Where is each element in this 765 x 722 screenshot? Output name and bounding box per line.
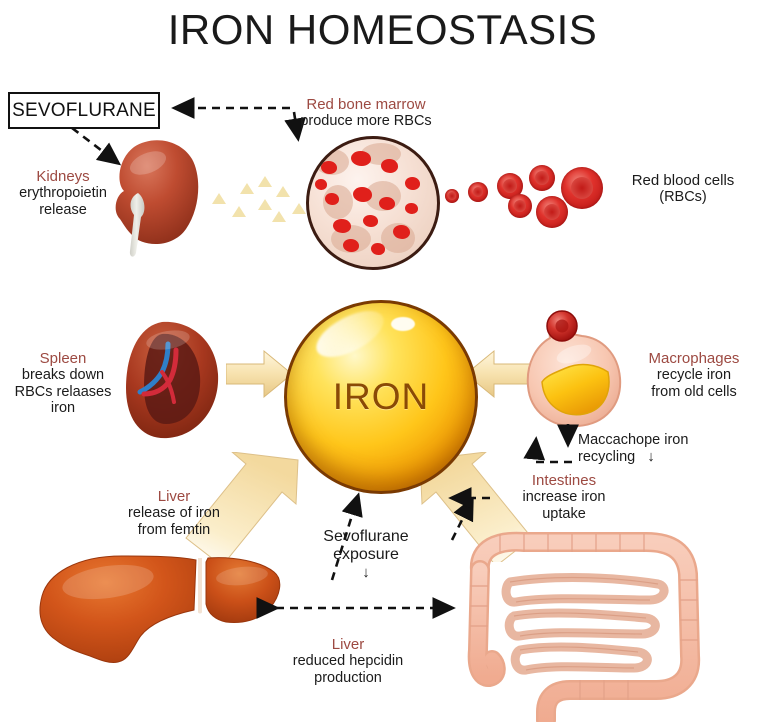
erythropoietin-particle — [292, 203, 306, 214]
red-blood-cell — [508, 194, 532, 218]
iron-label: IRON — [333, 376, 430, 418]
label-sevoexp-line1: Sevoflurane — [310, 528, 422, 546]
label-liver-ferritin: Liver release of iron from femtin — [104, 488, 244, 538]
label-macrophages-line1: recycle iron — [626, 367, 762, 384]
red-blood-cell — [445, 189, 459, 203]
diagram-canvas: IRON HOMEOSTASIS SEVOFLURANE — [0, 0, 765, 722]
label-liver-ferritin-line1: release of iron — [104, 505, 244, 522]
label-liver-hepcidin: Liver reduced hepcidin production — [258, 636, 438, 686]
sevoflurane-label: SEVOFLURANE — [12, 100, 156, 122]
erythropoietin-particle — [240, 183, 254, 194]
label-liver-hepcidin-line1: reduced hepcidin — [258, 653, 438, 670]
iron-gloss-dot — [391, 317, 415, 331]
label-macrophage-recycling-line1: Maccachope iron — [578, 432, 758, 449]
label-rbc-heading: Red blood cells — [608, 172, 758, 189]
label-liver-hepcidin-line2: production — [258, 670, 438, 687]
label-intestines-heading: Intestines — [490, 472, 638, 489]
label-macrophages-heading: Macrophages — [626, 350, 762, 367]
bone-marrow-illustration — [306, 136, 440, 270]
label-intestines-line1: increase iron — [490, 489, 638, 506]
iron-gloss-highlight — [309, 302, 390, 367]
sevoexp-down-arrow-icon: ↓ — [310, 565, 422, 580]
label-macrophages: Macrophages recycle iron from old cells — [626, 350, 762, 400]
label-macrophage-recycling-line2: recycling ↓ — [578, 449, 758, 466]
red-blood-cell — [529, 165, 555, 191]
liver-illustration — [36, 552, 284, 670]
macrophage-illustration — [518, 310, 630, 432]
page-title: IRON HOMEOSTASIS — [0, 6, 765, 54]
label-kidneys-line1: erythropoietin — [4, 185, 122, 202]
red-blood-cell — [468, 182, 488, 202]
red-blood-cell — [561, 167, 603, 209]
label-spleen-line3: iron — [2, 400, 124, 417]
kidney-illustration — [108, 133, 204, 259]
label-liver-ferritin-heading: Liver — [104, 488, 244, 505]
label-red-blood-cells: Red blood cells (RBCs) — [608, 172, 758, 206]
label-liver-ferritin-line2: from femtin — [104, 522, 244, 539]
intestines-illustration — [450, 530, 732, 722]
label-liver-hepcidin-heading: Liver — [258, 636, 438, 653]
block-arrow-spleen-to-iron — [226, 348, 292, 400]
erythropoietin-particle — [276, 186, 290, 197]
label-spleen-line2: RBCs relaases — [2, 384, 124, 401]
label-bone-marrow: Red bone marrow produce more RBCs — [286, 96, 446, 130]
red-blood-cell — [536, 196, 568, 228]
label-kidneys-line2: release — [4, 202, 122, 219]
iron-sphere: IRON — [284, 300, 478, 494]
label-bone-marrow-line1: produce more RBCs — [286, 113, 446, 130]
label-spleen: Spleen breaks down RBCs relaases iron — [2, 350, 124, 417]
label-kidneys: Kidneys erythropoietin release — [4, 168, 122, 218]
label-macrophage-recycling-word: recycling — [578, 449, 635, 465]
erythropoietin-particle — [258, 176, 272, 187]
label-macrophage-recycling: Maccachope iron recycling ↓ — [578, 432, 758, 465]
label-intestines: Intestines increase iron uptake — [490, 472, 638, 522]
erythropoietin-particle — [272, 211, 286, 222]
label-sevoexp-line2: exposure — [310, 546, 422, 564]
label-macrophages-line2: from old cells — [626, 384, 762, 401]
label-spleen-line1: breaks down — [2, 367, 124, 384]
erythropoietin-particle — [232, 206, 246, 217]
spleen-illustration — [118, 318, 222, 440]
sevoflurane-box: SEVOFLURANE — [8, 92, 160, 129]
label-rbc-line1: (RBCs) — [608, 189, 758, 206]
label-sevoflurane-exposure: Sevoflurane exposure ↓ — [310, 528, 422, 580]
erythropoietin-particle — [212, 193, 226, 204]
down-arrow-icon: ↓ — [647, 449, 654, 465]
label-kidneys-heading: Kidneys — [4, 168, 122, 185]
label-intestines-line2: uptake — [490, 506, 638, 523]
erythropoietin-particle — [258, 199, 272, 210]
label-bone-marrow-heading: Red bone marrow — [286, 96, 446, 113]
label-spleen-heading: Spleen — [2, 350, 124, 367]
